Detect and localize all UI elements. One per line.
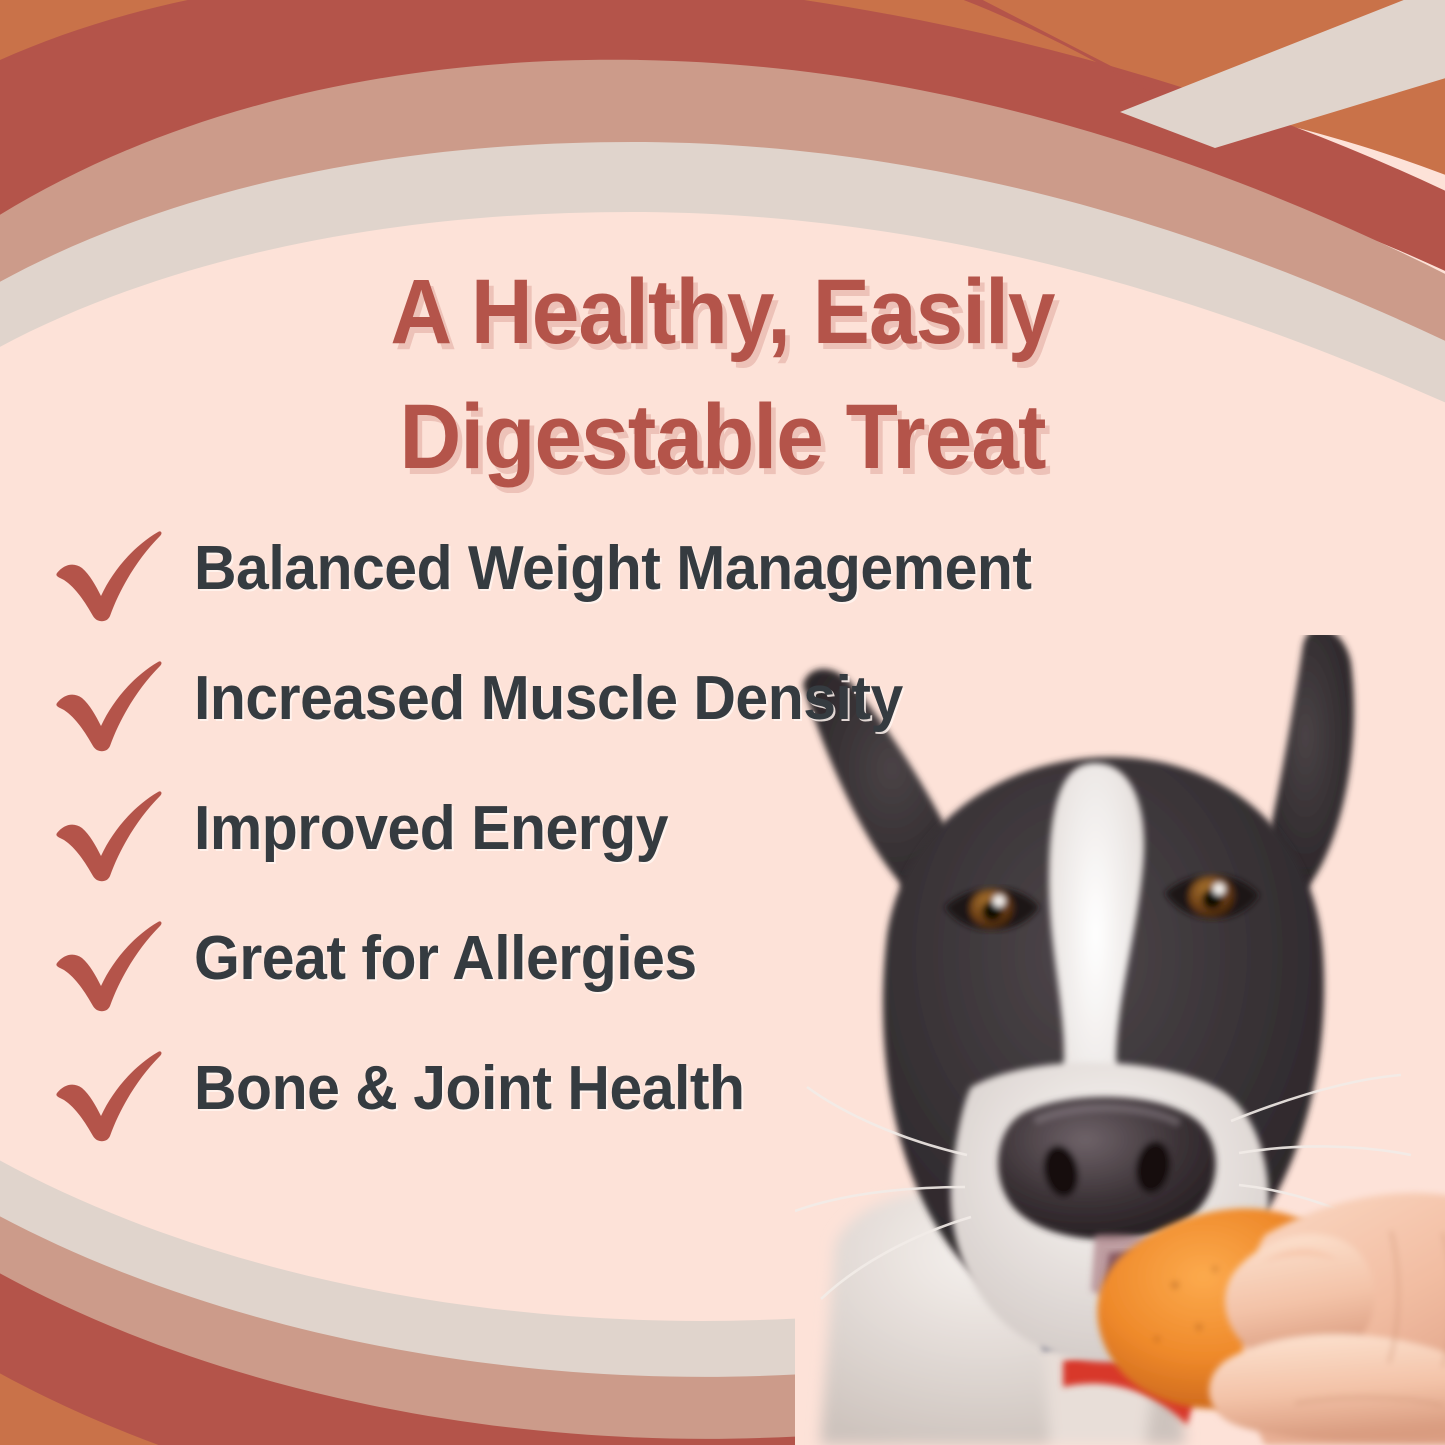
list-item-label: Improved Energy bbox=[194, 784, 668, 874]
page-title: A Healthy, Easily Digestable Treat bbox=[51, 250, 1395, 500]
check-mark-icon bbox=[54, 920, 166, 1012]
list-item-label: Great for Allergies bbox=[194, 914, 697, 1004]
list-item: Great for Allergies bbox=[54, 906, 1344, 1036]
check-mark-icon bbox=[54, 530, 166, 622]
list-item: Increased Muscle Density bbox=[54, 646, 1344, 776]
list-item-label: Balanced Weight Management bbox=[194, 524, 1032, 614]
list-item-label: Increased Muscle Density bbox=[194, 654, 903, 744]
list-item: Balanced Weight Management bbox=[54, 516, 1344, 646]
check-mark-icon bbox=[54, 660, 166, 752]
check-mark-icon bbox=[54, 790, 166, 882]
list-item: Improved Energy bbox=[54, 776, 1344, 906]
benefits-list: Balanced Weight Management Increased Mus… bbox=[54, 516, 1344, 1166]
check-mark-icon bbox=[54, 1050, 166, 1142]
list-item-label: Bone & Joint Health bbox=[194, 1044, 745, 1134]
list-item: Bone & Joint Health bbox=[54, 1036, 1344, 1166]
product-infographic: A Healthy, Easily Digestable Treat Balan… bbox=[0, 0, 1445, 1445]
